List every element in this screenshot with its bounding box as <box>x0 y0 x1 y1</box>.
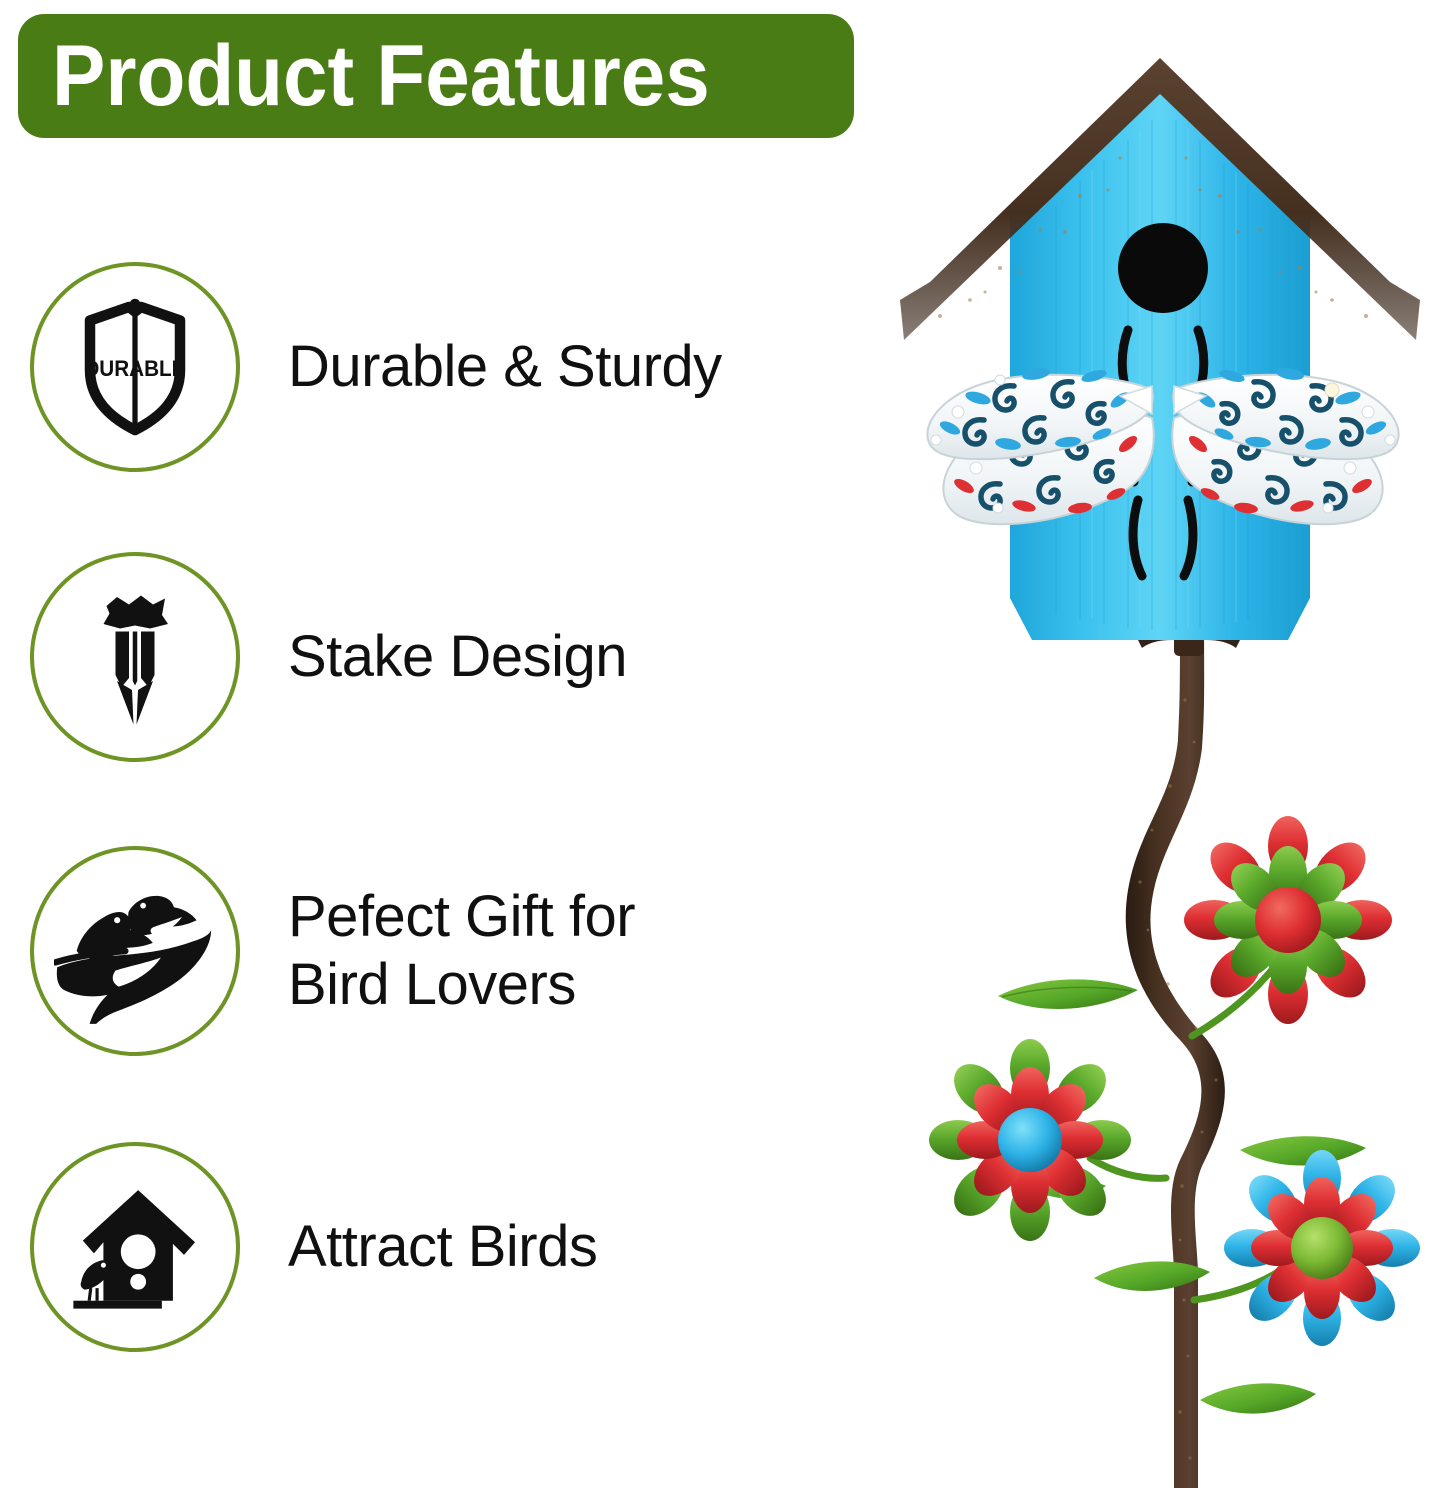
leaf <box>998 979 1138 1009</box>
flower-bottom <box>1224 1150 1420 1346</box>
feature-icon-ring <box>30 1142 240 1352</box>
feature-label-attract: Attract Birds <box>288 1213 597 1281</box>
product-features-banner: Product Features <box>18 14 854 138</box>
feature-item-gift: Pefect Gift for Bird Lovers <box>30 846 850 1056</box>
two-birds-on-branch-icon <box>54 870 216 1032</box>
feature-label-line: Pefect Gift for <box>288 883 635 951</box>
ground-stake-icon <box>60 582 210 732</box>
feature-item-stake: Stake Design <box>30 552 850 762</box>
entrance-hole <box>1118 223 1208 313</box>
feature-icon-ring <box>30 552 240 762</box>
shield-icon-text: DURABLE <box>84 355 185 381</box>
feature-label-line: Durable & Sturdy <box>288 333 722 401</box>
flower-center <box>1255 887 1321 953</box>
feature-item-durable: DURABLE Durable & Sturdy <box>30 262 850 472</box>
feature-label-line: Stake Design <box>288 623 627 691</box>
flower-top <box>1184 816 1392 1024</box>
feature-item-attract: Attract Birds <box>30 1142 850 1352</box>
feature-label-durable: Durable & Sturdy <box>288 333 722 401</box>
feature-label-line: Bird Lovers <box>288 951 635 1019</box>
feature-icon-ring: DURABLE <box>30 262 240 472</box>
page-title: Product Features <box>52 33 710 119</box>
flower-middle <box>929 1039 1131 1241</box>
flower-center <box>998 1108 1062 1172</box>
stake-rod <box>1126 600 1242 1488</box>
feature-label-gift: Pefect Gift for Bird Lovers <box>288 883 635 1020</box>
product-image-dragonfly-birdhouse-stake <box>880 0 1440 1488</box>
birdhouse-with-bird-icon <box>56 1168 214 1326</box>
leaf <box>1240 1136 1366 1165</box>
feature-icon-ring <box>30 846 240 1056</box>
shield-durable-icon: DURABLE <box>60 292 210 442</box>
leaf <box>1200 1383 1316 1413</box>
flower-center <box>1291 1217 1353 1279</box>
feature-label-line: Attract Birds <box>288 1213 597 1281</box>
feature-label-stake: Stake Design <box>288 623 627 691</box>
birdhouse <box>900 58 1420 640</box>
